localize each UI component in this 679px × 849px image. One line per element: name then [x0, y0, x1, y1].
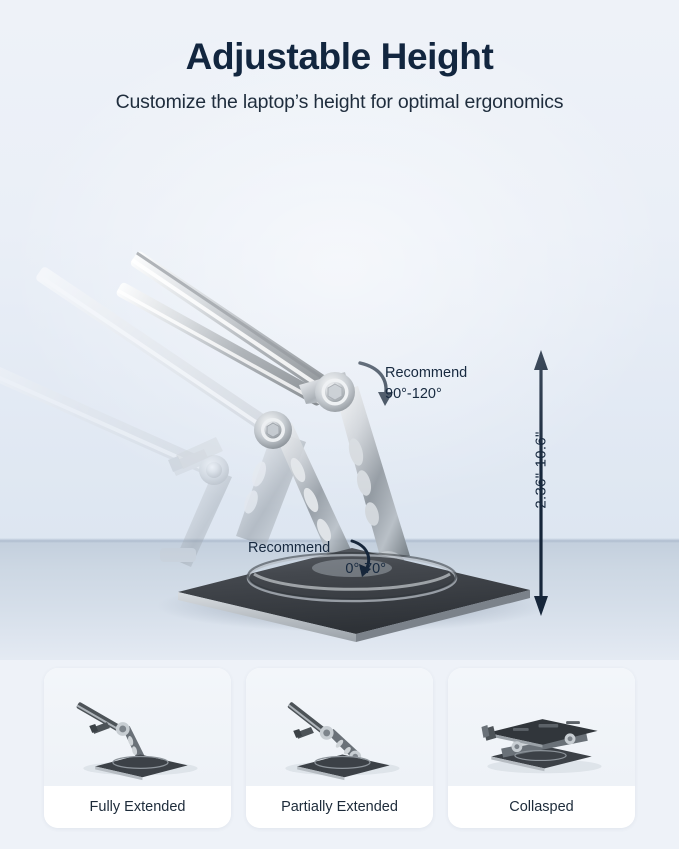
state-cards: Fully Extended — [0, 668, 679, 828]
page-title: Adjustable Height — [0, 0, 679, 77]
annotation-top-angle-line1: Recommend — [385, 363, 467, 384]
card-fully-extended-label: Fully Extended — [44, 786, 231, 828]
annotation-top-angle-line2: 90°-120° — [385, 384, 467, 405]
header: Adjustable Height Customize the laptop’s… — [0, 0, 679, 140]
annotation-bottom-angle-line2: 0°-70° — [248, 559, 408, 580]
card-partially-extended-image — [246, 668, 433, 786]
stand-icon-fully-extended — [76, 702, 198, 780]
card-partially-extended[interactable]: Partially Extended — [246, 668, 433, 828]
page-subtitle: Customize the laptop’s height for optima… — [0, 77, 679, 114]
card-fully-extended[interactable]: Fully Extended — [44, 668, 231, 828]
annotation-height-range: 2.36"-10.6" — [533, 431, 550, 508]
card-fully-extended-image — [44, 668, 231, 786]
card-collapsed-label: Collasped — [448, 786, 635, 828]
annotation-bottom-angle-line1: Recommend — [248, 538, 408, 559]
annotation-bottom-angle: Recommend 0°-70° — [248, 538, 408, 580]
card-collapsed[interactable]: Collasped — [448, 668, 635, 828]
card-partially-extended-label: Partially Extended — [246, 786, 433, 828]
stand-icon-collapsed — [481, 719, 601, 773]
annotation-top-angle: Recommend 90°-120° — [385, 363, 467, 405]
stand-icon-partially-extended — [285, 701, 399, 780]
card-collapsed-image — [448, 668, 635, 786]
